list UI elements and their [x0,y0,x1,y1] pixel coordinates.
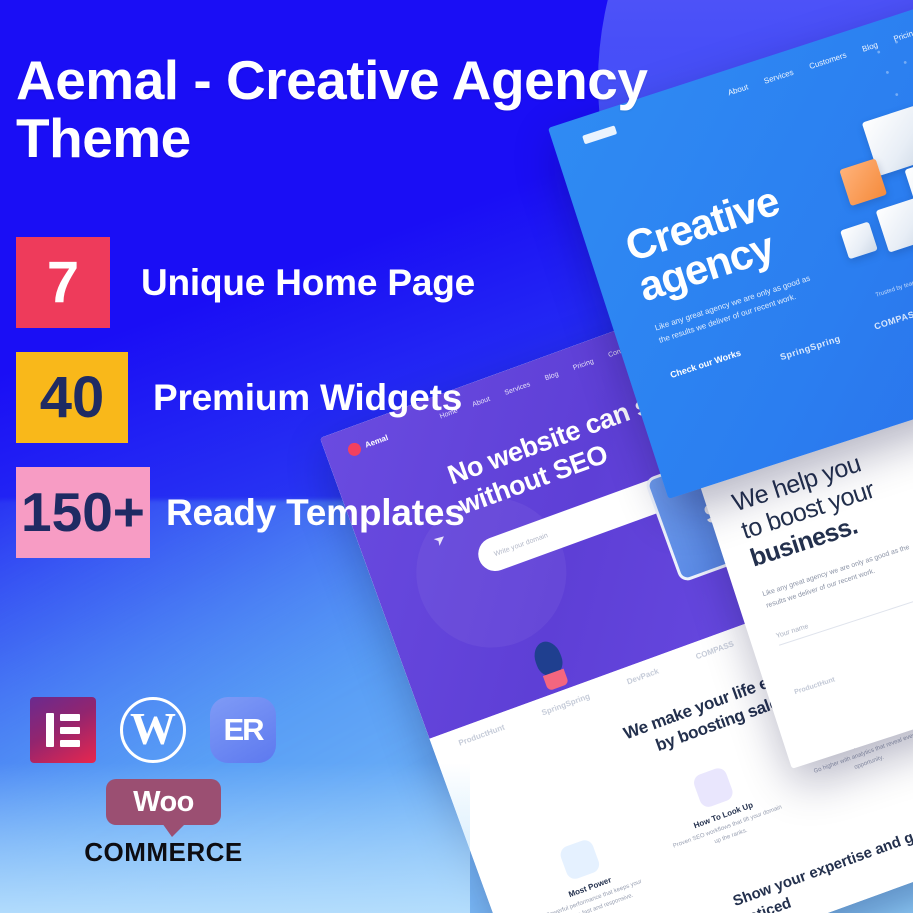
technology-logos: W ER Woo COMMERCE [30,697,330,868]
seo-feature-card: How To Look Up Proven SEO workflows that… [651,751,789,862]
seo-feature-card: Most Power Powerful performance that kee… [518,823,656,913]
seo-nav-item[interactable]: Pricing [572,358,595,372]
stat-row: 7 Unique Home Page [16,237,536,328]
elementor-icon [30,697,96,763]
feature-icon [558,838,602,882]
woo-bubble-shape: Woo [106,779,221,825]
stat-badge-count: 150+ [16,467,150,558]
stat-badge-count: 7 [16,237,110,328]
stat-badge-count: 40 [16,352,128,443]
commerce-word: COMMERCE [76,837,251,868]
elementor-mark [46,713,80,747]
brand-logo: DevPack [626,667,660,687]
brand-logo: COMPASS [695,639,736,661]
stat-label: Unique Home Page [141,262,475,304]
stats-list: 7 Unique Home Page 40 Premium Widgets 15… [16,237,536,582]
agency-brand-strip: SpringSpring COMPASS [779,307,913,362]
logo-row: W ER [30,697,330,763]
brand-logo: COMPASS [873,307,913,331]
er-icon: ER [210,697,276,763]
brand-logo: SpringSpring [540,692,591,718]
woocommerce-icon: Woo COMMERCE [76,779,251,868]
stat-label: Ready Templates [166,492,465,534]
elementor-bar-icon [46,713,54,747]
wordpress-icon: W [120,697,186,763]
seo-nav-item[interactable]: Blog [544,371,560,382]
business-brand-logo: ProductHunt [794,676,836,696]
promo-banner: ➤ Aemal Home About Services Blog Pricing… [0,0,913,913]
cube-shape [840,222,878,260]
agency-works-link[interactable]: Check our Works [669,348,742,380]
feature-icon [691,766,735,810]
stat-label: Premium Widgets [153,377,462,419]
woo-word: Woo [133,788,194,817]
cube-shape [876,197,913,252]
brand-logo: ProductHunt [457,723,506,748]
stat-row: 150+ Ready Templates [16,467,536,558]
brand-logo: SpringSpring [779,333,842,362]
page-title: Aemal - Creative Agency Theme [16,52,806,168]
agency-nav-item[interactable]: Customers [808,50,848,71]
stat-row: 40 Premium Widgets [16,352,536,443]
elementor-stack-icon [60,714,80,747]
agency-trusted-text: Trusted by teams at over 1,000 of the wo… [875,256,913,299]
